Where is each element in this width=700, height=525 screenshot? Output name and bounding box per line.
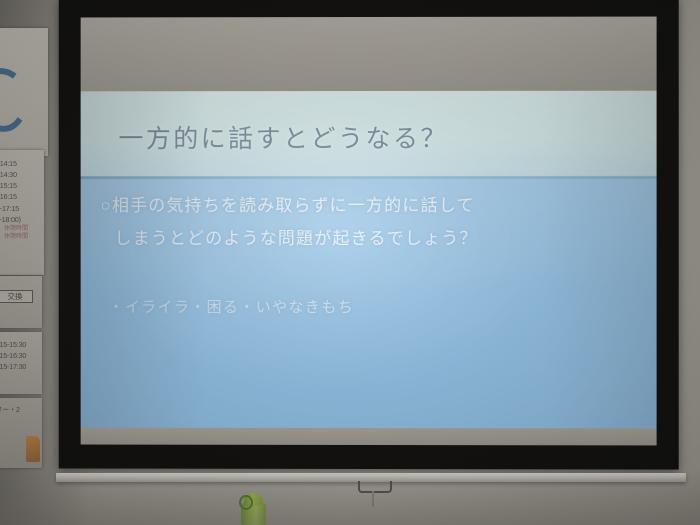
schedule-stamp: 休憩時間 bbox=[0, 225, 44, 233]
time-line: 16:15-16:30 bbox=[0, 350, 42, 361]
slide-sub-text: ・イライラ・困る・いやなきもち bbox=[109, 296, 354, 317]
wall-paper-bottom: ッター・2 bbox=[0, 398, 42, 468]
screen-unlit-top-band bbox=[81, 17, 657, 92]
time-line: 17:15-17:30 bbox=[0, 361, 42, 372]
slide-body-line-2: しまうとどのような問題が起きるでしょう？ bbox=[101, 222, 641, 255]
wall-shadow-bottom bbox=[0, 470, 700, 525]
wall-poster-logo bbox=[0, 28, 48, 156]
schedule-line: -30-17:15 bbox=[0, 203, 44, 214]
slide-body-text: ○相手の気持ちを読み取らずに一方的に話して しまうとどのような問題が起きるでしょ… bbox=[101, 189, 641, 255]
schedule-line: 30-14:15 bbox=[0, 158, 44, 169]
projection-screen-surface: 一方的に話すとどうなる？ ○相手の気持ちを読み取らずに一方的に話して しまうとど… bbox=[81, 17, 657, 446]
schedule-line: 30-16:15 bbox=[0, 191, 44, 202]
wall-paper-schedule: 30-14:15 15-14:30 30-15:15 30-16:15 -30-… bbox=[0, 150, 44, 275]
schedule-line: 15-14:30 bbox=[0, 169, 44, 180]
schedule-line: 30-15:15 bbox=[0, 180, 44, 191]
slide-body-line-1: ○相手の気持ちを読み取らずに一方的に話して bbox=[101, 196, 475, 215]
projection-screen-frame: 一方的に話すとどうなる？ ○相手の気持ちを読み取らずに一方的に話して しまうとど… bbox=[59, 0, 679, 470]
bottom-note: ッター・2 bbox=[0, 398, 42, 415]
time-line: 15:15-15:30 bbox=[0, 339, 42, 350]
screen-unlit-bottom-band bbox=[81, 428, 657, 446]
wall-paper-times: 15:15-15:30 16:15-16:30 17:15-17:30 bbox=[0, 332, 42, 394]
slide-title: 一方的に話すとどうなる？ bbox=[118, 119, 448, 155]
projected-slide: 一方的に話すとどうなる？ ○相手の気持ちを読み取らずに一方的に話して しまうとど… bbox=[81, 91, 657, 429]
photo-canvas: 30-14:15 15-14:30 30-15:15 30-16:15 -30-… bbox=[0, 0, 700, 525]
wall-paper-label: 交換 bbox=[0, 276, 42, 328]
swirl-logo-icon bbox=[0, 65, 32, 136]
label-box-text: 交換 bbox=[0, 290, 33, 303]
schedule-stamp: 休憩時間 bbox=[0, 233, 44, 241]
orange-sticker-icon bbox=[26, 436, 40, 462]
schedule-line: :30-18:00) bbox=[0, 214, 44, 225]
